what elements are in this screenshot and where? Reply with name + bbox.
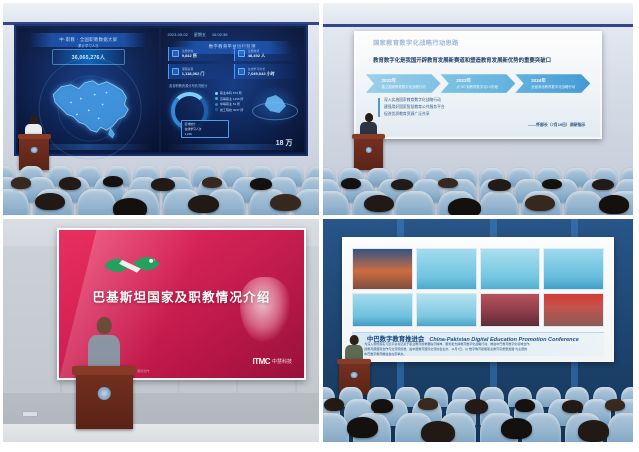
audience-head [113,198,147,215]
audience-head [364,195,394,213]
audience-head [418,398,438,410]
audience-head [605,399,625,411]
audience-head [501,418,531,439]
photo-row-bottom [352,293,605,327]
bullet-item: 建强用好国家智慧教育公共服务平台 [384,105,445,110]
photo-thumbnail [480,293,541,327]
logo-chinese-name: 中慧科技 [272,358,292,365]
chart-legend: 职业本科 673 所 高等职业 1296 所 中等职业 51 所 技工院校 30… [215,91,243,112]
kpi-card-value: 9,842 所 [182,53,197,59]
legend-item: 中等职业 51 所 [215,102,243,106]
bullet-list: 深入实施国家教育数字化战略行动 建强用好国家智慧教育公共服务平台 促进优质教育资… [378,98,445,117]
panel-conference-review-presentation: 中巴数字教育推进会 China-Pakistan Digital Educati… [323,219,633,442]
kpi-card: 注册学校 9,842 所 [168,47,231,62]
audience-head [448,198,481,215]
ceiling [323,3,633,24]
clock-icon [238,68,245,75]
audience-head [341,178,361,190]
speaker-head [365,113,373,122]
timeline-step: 2022年 建立国家教育数字化战略行动 [366,74,441,93]
kpi-card-value: 7,049,042 小时 [248,71,275,77]
wall-outlet [22,411,38,418]
timeline: 2022年 建立国家教育数字化战略行动 2023年 从“3C”到教育数字化2.0… [366,74,591,93]
timeline-desc: 从“3C”到教育数字化2.0阶段 [456,84,515,89]
section-label: 各省职教资源分布情况统计 [169,83,207,88]
region-minimap [251,85,300,127]
audience-head [562,400,584,413]
panel-policy-slide-presentation: 国家教育数字化战略行动思路 教育数字化是我国开辟教育发展新赛道和塑造教育发展新优… [323,3,633,215]
photo-thumbnail [416,293,477,327]
audience-head [599,195,629,214]
bullet-item: 深入实施国家教育数字化战略行动 [384,98,445,103]
kpi-card: 在线学习时长 7,049,042 小时 [234,64,297,79]
podium-top [72,366,136,375]
audience-seating [3,122,319,215]
slide-subtitle: 教育数字化是我国开辟教育发展新赛道和塑造教育发展新优势的重要突破口 [373,56,588,64]
audience-head [250,178,272,190]
legend-item: 技工院校 3037 所 [215,108,243,112]
audience-head [421,421,454,442]
floor [3,424,319,442]
panel-data-dashboard-presentation: 中·职教 · 全国职教数据大屏 累计学习人次 36,065,276人 [3,3,319,215]
timeline-step: 2024年 全面深化教育数字化战略行动 [515,74,590,93]
audience-head [515,399,535,412]
audience-head [11,177,31,189]
minimap-ring [252,102,298,120]
timeline-step: 2023年 从“3C”到教育数字化2.0阶段 [441,74,516,93]
podium-emblem [98,387,111,400]
audience-head [202,177,222,188]
photo-row-top [352,248,605,290]
audience-head [188,195,219,214]
audience-head [578,420,608,442]
teacher-icon [238,50,245,57]
school-icon [172,50,179,57]
dashboard-status-bar: 2023-05-02 星期五 16:02:36 [163,29,301,40]
audience-head [488,179,511,191]
audience-head [103,176,123,187]
audience-seating [323,126,633,215]
audience-head [151,178,175,191]
ceiling-stripe [323,24,633,27]
audience-head [324,398,344,411]
course-icon [172,68,179,75]
timeline-desc: 全面深化教育数字化战略行动 [531,84,590,89]
audience-head [59,177,81,190]
audience-head [525,195,555,212]
audience-head [371,399,393,413]
projection-screen: 国家教育数字化战略行动思路 教育数字化是我国开辟教育发展新赛道和塑造教育发展新优… [356,33,600,137]
audience-head [347,417,377,438]
audience-head [592,179,614,191]
status-date: 2023-05-02 [167,32,187,37]
podium-lectern [76,366,133,428]
photo-thumbnail [543,293,604,327]
audience-head [542,179,562,190]
legend-item: 职业本科 673 所 [215,91,243,95]
panel-pakistan-slide-presentation: 巴基斯坦国家及职教情况介绍 ITMC 中慧科技 中慧科技 · 国际合作 [3,219,319,442]
kpi-caption: 累计学习人次 [60,43,116,48]
slide-policy: 国家教育数字化战略行动思路 教育数字化是我国开辟教育发展新赛道和塑造教育发展新优… [356,33,600,137]
photo-collage: 中·职教 · 全国职教数据大屏 累计学习人次 36,065,276人 [0,0,639,452]
legend-item: 高等职业 1296 所 [215,97,243,101]
kpi-card: 课程资源 1,118,062 门 [168,64,231,79]
slide-title: 巴基斯坦国家及职教情况介绍 [92,287,270,306]
photo-thumbnail [416,248,477,290]
kpi-card-value: 1,118,062 门 [182,71,205,77]
audience-head [391,179,413,191]
audience-head [270,194,301,212]
kpi-card-grid: 注册学校 9,842 所 注册教师 48,492 人 [168,47,297,79]
photo-thumbnail [543,248,604,290]
itmc-logo: ITMC 中慧科技 [252,357,292,366]
audience-head [35,193,66,211]
handshake-icon [100,249,164,279]
status-time: 16:02:36 [212,32,228,37]
audience-seating [323,339,633,442]
kpi-card: 注册教师 48,492 人 [234,47,297,62]
timeline-desc: 建立国家教育数字化战略行动 [381,84,440,89]
photo-thumbnail [352,248,413,290]
status-weekday: 星期五 [194,32,206,38]
photo-thumbnail [480,248,541,290]
logo-mark: ITMC [252,357,270,366]
photo-thumbnail [352,293,413,327]
audience-head [438,178,458,189]
speaker-head [97,317,112,334]
projection-screen-frame: 国家教育数字化战略行动思路 教育数字化是我国开辟教育发展新赛道和塑造教育发展新优… [354,31,602,139]
kpi-card-value: 48,492 人 [248,53,265,59]
bullet-item: 促进优质教育资源广泛共享 [384,112,445,117]
slide-title: 国家教育数字化战略行动思路 [373,38,459,47]
ceiling [3,3,319,24]
audience-head [465,399,488,414]
